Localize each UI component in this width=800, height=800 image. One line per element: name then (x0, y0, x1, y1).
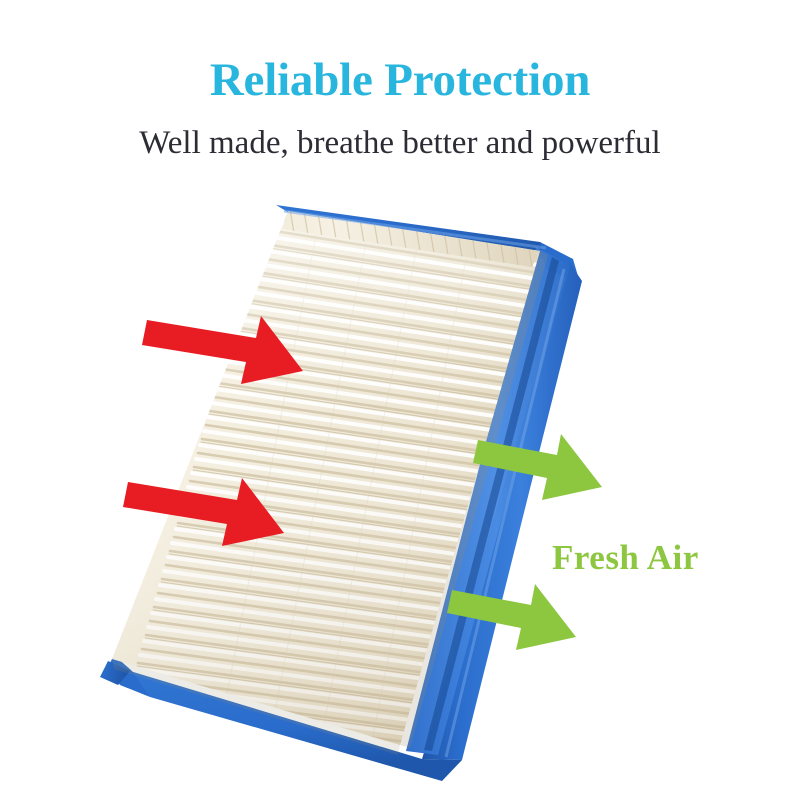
infographic-canvas: Reliable Protection Well made, breathe b… (0, 0, 800, 800)
fresh-air-label: Fresh Air (552, 538, 699, 578)
page-title: Reliable Protection (0, 56, 800, 105)
page-subtitle: Well made, breathe better and powerful (0, 126, 800, 161)
product-image-air-filter (70, 185, 600, 785)
